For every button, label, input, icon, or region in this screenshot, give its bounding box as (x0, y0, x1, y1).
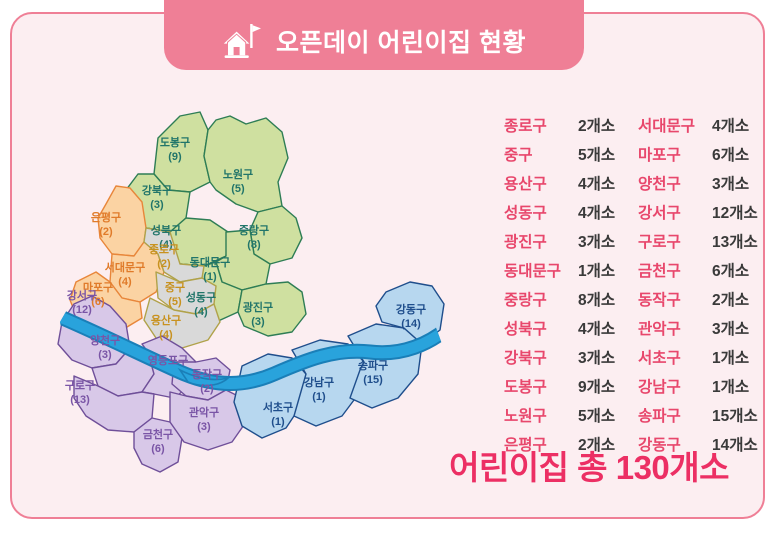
district-count: 12개소 (712, 201, 758, 223)
table-row: 종로구2개소 (504, 110, 638, 139)
title-banner: 오픈데이 어린이집 현황 (164, 12, 584, 70)
table-row: 송파구15개소 (638, 400, 772, 429)
district-count: 5개소 (578, 404, 615, 426)
district-name: 종로구 (504, 114, 578, 136)
map-label-중랑구: 중랑구 (239, 224, 269, 237)
page-title: 오픈데이 어린이집 현황 (276, 23, 526, 59)
district-name: 광진구 (504, 230, 578, 252)
map-label-서초구: 서초구 (263, 400, 293, 414)
district-name: 중구 (504, 143, 578, 165)
district-name: 강북구 (504, 346, 578, 368)
map-count-중구: (5) (168, 296, 182, 308)
district-count: 1개소 (578, 259, 615, 281)
table-row: 금천구6개소 (638, 255, 772, 284)
map-count-도봉구: (9) (168, 151, 182, 163)
map-label-광진구: 광진구 (243, 300, 273, 314)
map-label-동대문구: 동대문구 (190, 255, 230, 269)
table-row: 동작구2개소 (638, 284, 772, 313)
district-count: 4개소 (578, 317, 615, 339)
district-name: 관악구 (638, 317, 712, 339)
map-count-관악구: (3) (197, 421, 211, 433)
table-row: 구로구13개소 (638, 226, 772, 255)
table-row: 중구5개소 (504, 139, 638, 168)
map-count-송파구: (15) (363, 374, 383, 386)
district-name: 금천구 (638, 259, 712, 281)
district-name: 강서구 (638, 201, 712, 223)
district-name: 구로구 (638, 230, 712, 252)
table-row: 마포구6개소 (638, 139, 772, 168)
table-column-right: 서대문구4개소마포구6개소양천구3개소강서구12개소구로구13개소금천구6개소동… (638, 110, 772, 458)
map-label-종로구: 종로구 (149, 243, 179, 256)
content-card: 오픈데이 어린이집 현황 도봉구(9)노원구(5)강북구(3)성북구(4)중랑구… (10, 12, 765, 519)
table-column-left: 종로구2개소중구5개소용산구4개소성동구4개소광진구3개소동대문구1개소중랑구8… (504, 110, 638, 458)
table-row: 강남구1개소 (638, 371, 772, 400)
map-count-강서구: (12) (72, 304, 92, 316)
map-count-강남구: (1) (312, 391, 326, 403)
total-count-text: 어린이집 총 130개소 (449, 441, 729, 489)
district-count: 3개소 (712, 172, 749, 194)
map-region-노원구[interactable] (204, 116, 288, 212)
map-label-은평구: 은평구 (91, 210, 121, 224)
district-count: 4개소 (578, 172, 615, 194)
map-count-서대문구: (4) (118, 276, 132, 288)
district-name: 양천구 (638, 172, 712, 194)
district-count: 2개소 (712, 288, 749, 310)
map-label-동작구: 동작구 (192, 367, 222, 381)
table-row: 서대문구4개소 (638, 110, 772, 139)
table-row: 강서구12개소 (638, 197, 772, 226)
map-label-성북구: 성북구 (151, 223, 181, 237)
district-name: 용산구 (504, 172, 578, 194)
map-label-성동구: 성동구 (186, 290, 216, 304)
district-name: 마포구 (638, 143, 712, 165)
district-count: 5개소 (578, 143, 615, 165)
map-count-양천구: (3) (98, 349, 112, 361)
table-row: 성동구4개소 (504, 197, 638, 226)
map-label-양천구: 양천구 (90, 333, 120, 347)
map-label-서대문구: 서대문구 (105, 260, 145, 274)
table-row: 광진구3개소 (504, 226, 638, 255)
map-label-구로구: 구로구 (65, 379, 95, 392)
map-label-중구: 중구 (165, 281, 185, 294)
map-label-금천구: 금천구 (143, 427, 173, 441)
map-label-강북구: 강북구 (142, 183, 172, 197)
district-count: 3개소 (578, 346, 615, 368)
district-count: 6개소 (712, 143, 749, 165)
district-name: 송파구 (638, 404, 712, 426)
district-count: 1개소 (712, 375, 749, 397)
map-count-동대문구: (1) (203, 271, 217, 283)
map-label-강남구: 강남구 (304, 375, 334, 389)
district-name: 성동구 (504, 201, 578, 223)
table-row: 도봉구9개소 (504, 371, 638, 400)
map-label-영등포구: 영등포구 (148, 354, 188, 367)
table-row: 중랑구8개소 (504, 284, 638, 313)
map-count-노원구: (5) (231, 183, 245, 195)
map-label-송파구: 송파구 (358, 358, 388, 372)
district-count-table: 종로구2개소중구5개소용산구4개소성동구4개소광진구3개소동대문구1개소중랑구8… (504, 110, 772, 458)
table-row: 관악구3개소 (638, 313, 772, 342)
map-count-광진구: (3) (251, 316, 265, 328)
district-count: 13개소 (712, 230, 758, 252)
seoul-district-map: 도봉구(9)노원구(5)강북구(3)성북구(4)중랑구(8)동대문구(1)성동구… (30, 86, 470, 486)
map-count-종로구: (2) (157, 258, 171, 270)
district-name: 서대문구 (638, 114, 712, 136)
map-count-동작구: (2) (200, 383, 214, 395)
map-label-강서구: 강서구 (67, 288, 97, 302)
district-name: 노원구 (504, 404, 578, 426)
district-name: 도봉구 (504, 375, 578, 397)
district-name: 동대문구 (504, 259, 578, 281)
map-count-강북구: (3) (150, 199, 164, 211)
table-row: 양천구3개소 (638, 168, 772, 197)
district-name: 성북구 (504, 317, 578, 339)
map-count-서초구: (1) (271, 416, 285, 428)
district-count: 4개소 (578, 201, 615, 223)
table-row: 동대문구1개소 (504, 255, 638, 284)
map-label-도봉구: 도봉구 (160, 136, 190, 149)
district-name: 강남구 (638, 375, 712, 397)
map-count-중랑구: (8) (247, 239, 261, 251)
table-row: 노원구5개소 (504, 400, 638, 429)
house-with-flag-icon (222, 23, 262, 59)
table-row: 성북구4개소 (504, 313, 638, 342)
table-row: 서초구1개소 (638, 342, 772, 371)
map-count-용산구: (4) (159, 329, 173, 341)
map-label-노원구: 노원구 (223, 167, 253, 181)
district-count: 4개소 (712, 114, 749, 136)
district-name: 중랑구 (504, 288, 578, 310)
infographic-page: 오픈데이 어린이집 현황 도봉구(9)노원구(5)강북구(3)성북구(4)중랑구… (0, 0, 779, 533)
map-label-관악구: 관악구 (189, 405, 219, 419)
table-row: 용산구4개소 (504, 168, 638, 197)
map-count-은평구: (2) (99, 226, 113, 238)
map-region-도봉구[interactable] (154, 112, 210, 192)
district-name: 서초구 (638, 346, 712, 368)
map-count-성동구: (4) (194, 306, 208, 318)
map-label-용산구: 용산구 (151, 313, 181, 327)
map-count-구로구: (13) (70, 394, 90, 406)
district-count: 8개소 (578, 288, 615, 310)
table-row: 강북구3개소 (504, 342, 638, 371)
district-count: 9개소 (578, 375, 615, 397)
map-count-금천구: (6) (151, 443, 165, 455)
map-label-강동구: 강동구 (396, 302, 426, 316)
district-name: 동작구 (638, 288, 712, 310)
district-count: 1개소 (712, 346, 749, 368)
district-count: 15개소 (712, 404, 758, 426)
district-count: 3개소 (712, 317, 749, 339)
district-count: 2개소 (578, 114, 615, 136)
district-count: 3개소 (578, 230, 615, 252)
district-count: 6개소 (712, 259, 749, 281)
map-count-강동구: (14) (401, 318, 421, 330)
